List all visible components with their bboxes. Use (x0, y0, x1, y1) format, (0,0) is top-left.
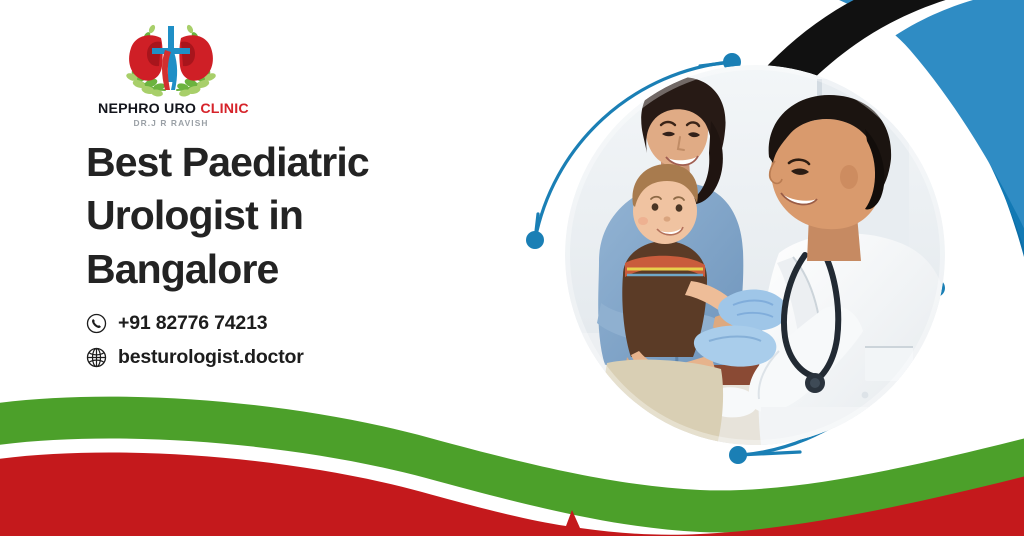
ring-dot-bottom (729, 446, 747, 464)
ring-stub-bottom (738, 452, 800, 455)
ring-stub-left (535, 214, 538, 240)
page-title: Best Paediatric Urologist in Bangalore (86, 136, 516, 296)
ring-dot-left (526, 231, 544, 249)
wave-red (0, 453, 1024, 536)
globe-icon (86, 347, 107, 368)
logo-subtitle: DR.J R RAVISH (98, 118, 244, 128)
clinic-promo-banner: NEPHRO URO CLINIC DR.J R RAVISH Best Pae… (0, 0, 1024, 536)
vessel-blue-crossbar (152, 48, 190, 54)
logo-name-dark: NEPHRO URO (98, 101, 196, 117)
phone-circle-icon (86, 313, 107, 334)
headline-line-2: Urologist in (86, 189, 516, 242)
phone-number: +91 82776 74213 (118, 312, 267, 335)
kidney-urology-logo-icon (121, 20, 221, 100)
contact-info: +91 82776 74213 besturologist.doctor (86, 306, 304, 374)
headline-line-1: Best Paediatric (86, 136, 516, 189)
headline-line-3: Bangalore (86, 243, 516, 296)
logo-name-red: CLINIC (200, 101, 249, 117)
clinic-logo[interactable]: NEPHRO URO CLINIC DR.J R RAVISH (98, 20, 244, 128)
photo-illustration (565, 65, 945, 445)
wave-white-separator (0, 439, 1024, 536)
logo-wordmark: NEPHRO URO CLINIC (98, 102, 244, 117)
doctor-examining-baby-with-mother-photo (565, 65, 945, 445)
website-url: besturologist.doctor (118, 346, 304, 369)
mother-lap (604, 360, 723, 445)
contact-row-website[interactable]: besturologist.doctor (86, 340, 304, 374)
contact-row-phone[interactable]: +91 82776 74213 (86, 306, 304, 340)
